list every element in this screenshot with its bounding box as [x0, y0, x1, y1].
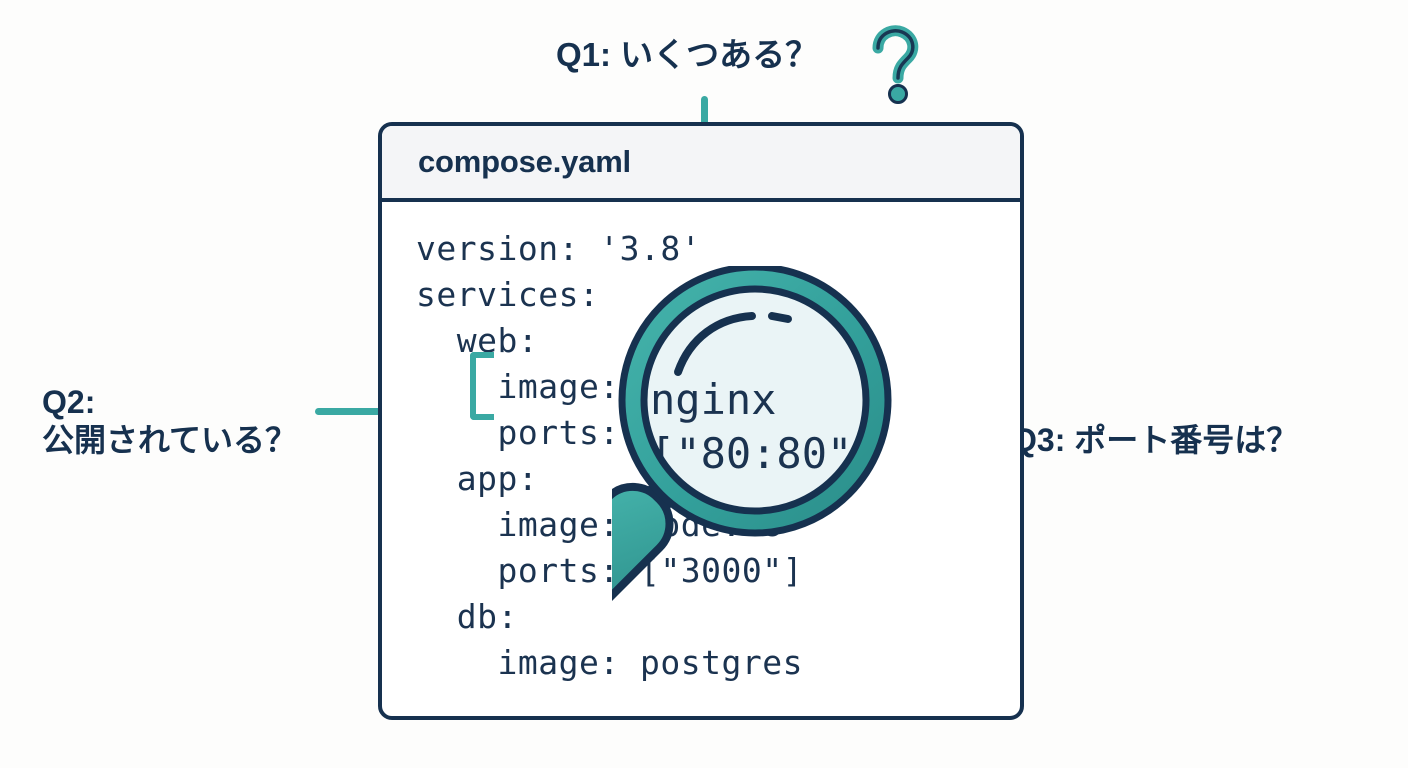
- diagram-canvas: Q1: いくつある？ Q2: 公開されている？ Q3: ポート番号は？ comp…: [0, 0, 1408, 768]
- code-line: app:: [416, 456, 1020, 502]
- code-line: ports: ["3000"]: [416, 548, 1020, 594]
- editor-title-bar: compose.yaml: [382, 126, 1020, 202]
- code-line: services:: [416, 272, 1020, 318]
- q2-label: Q2: 公開されている？: [42, 384, 297, 460]
- question-mark-icon: [866, 22, 926, 106]
- code-line: db:: [416, 594, 1020, 640]
- code-editor-window: compose.yaml version: '3.8' services: we…: [378, 122, 1024, 720]
- code-line: image: node:18: [416, 502, 1020, 548]
- q3-label: Q3: ポート番号は？: [1012, 422, 1298, 460]
- code-line: image: postgres: [416, 640, 1020, 686]
- code-line: ports: ["80:80"]: [416, 410, 1020, 456]
- code-content: version: '3.8' services: web: image: ngi…: [382, 202, 1020, 686]
- bracket-marker: [470, 352, 494, 420]
- q1-label: Q1: いくつある？: [556, 36, 818, 75]
- code-line: web:: [416, 318, 1020, 364]
- filename-label: compose.yaml: [418, 144, 631, 180]
- code-line: image: nginx: [416, 364, 1020, 410]
- code-line: version: '3.8': [416, 226, 1020, 272]
